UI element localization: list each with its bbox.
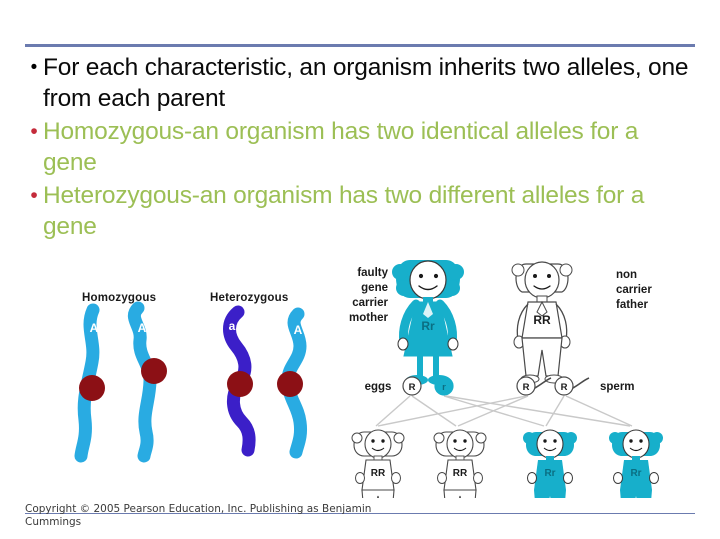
- sperm-R-2: R: [555, 377, 589, 395]
- inheritance-diagram: Rr faulty gene carrier mother: [348, 238, 720, 498]
- svg-text:carrier: carrier: [616, 284, 652, 296]
- mother-caption: faulty gene carrier mother: [349, 267, 389, 324]
- svg-text:R: R: [561, 382, 568, 393]
- centromere-dot: [227, 371, 253, 397]
- centromere-dot: [79, 375, 105, 401]
- pedigree-svg: Rr faulty gene carrier mother: [348, 238, 720, 498]
- svg-text:r: r: [442, 382, 446, 393]
- allele-label-homo-right: A: [138, 321, 147, 335]
- child-genotype-label: RR: [371, 468, 386, 479]
- eggs-label: eggs: [365, 381, 392, 393]
- centromere-dot: [277, 371, 303, 397]
- child-figure-3: Rr: [523, 430, 577, 498]
- svg-text:father: father: [616, 299, 648, 311]
- parent-father-figure: RR: [512, 262, 572, 383]
- chromosome-svg: A A a A: [60, 280, 360, 480]
- parent-mother-figure: Rr: [392, 260, 464, 385]
- bullet-marker-icon: •: [25, 52, 43, 83]
- bullet-text: Homozygous-an organism has two identical…: [43, 116, 695, 178]
- svg-text:mother: mother: [349, 312, 389, 324]
- child-genotype-label: RR: [453, 468, 468, 479]
- copyright-notice: Copyright © 2005 Pearson Education, Inc.…: [25, 503, 425, 529]
- sperm-label: sperm: [600, 381, 635, 393]
- svg-text:faulty: faulty: [357, 267, 388, 279]
- slide-canvas: • For each characteristic, an organism i…: [0, 0, 720, 539]
- child-figure-4: Rr: [609, 430, 663, 498]
- list-item: • Heterozygous-an organism has two diffe…: [25, 180, 695, 242]
- allele-label-hetero-left: a: [229, 319, 236, 333]
- list-item: • For each characteristic, an organism i…: [25, 52, 695, 114]
- child-genotype-label: Rr: [544, 468, 555, 479]
- svg-text:gene: gene: [361, 282, 388, 294]
- bullet-list: • For each characteristic, an organism i…: [25, 52, 695, 244]
- svg-text:non: non: [616, 269, 637, 281]
- bullet-text: For each characteristic, an organism inh…: [43, 52, 695, 114]
- father-genotype-label: RR: [533, 313, 551, 327]
- inheritance-cross-lines: [376, 396, 632, 426]
- child-figure-1: RR: [352, 430, 404, 498]
- svg-text:R: R: [523, 382, 530, 393]
- bullet-marker-icon: •: [25, 180, 43, 211]
- list-item: • Homozygous-an organism has two identic…: [25, 116, 695, 178]
- bullet-text: Heterozygous-an organism has two differe…: [43, 180, 695, 242]
- allele-label-homo-left: A: [90, 321, 99, 335]
- child-figure-2: RR: [434, 430, 486, 498]
- egg-R: R: [403, 377, 421, 395]
- child-genotype-label: Rr: [630, 468, 641, 479]
- centromere-dot: [141, 358, 167, 384]
- chromosome-diagram: Homozygous Heterozygous A A a A: [60, 280, 360, 480]
- allele-label-hetero-right: A: [294, 323, 303, 337]
- svg-text:carrier: carrier: [352, 297, 388, 309]
- svg-text:R: R: [409, 382, 416, 393]
- bullet-marker-icon: •: [25, 116, 43, 147]
- egg-r: r: [435, 377, 453, 395]
- mother-genotype-label: Rr: [421, 319, 435, 333]
- figure-area: Homozygous Heterozygous A A a A: [0, 268, 720, 498]
- top-divider-rule: [25, 44, 695, 47]
- father-caption: non carrier father: [616, 269, 652, 311]
